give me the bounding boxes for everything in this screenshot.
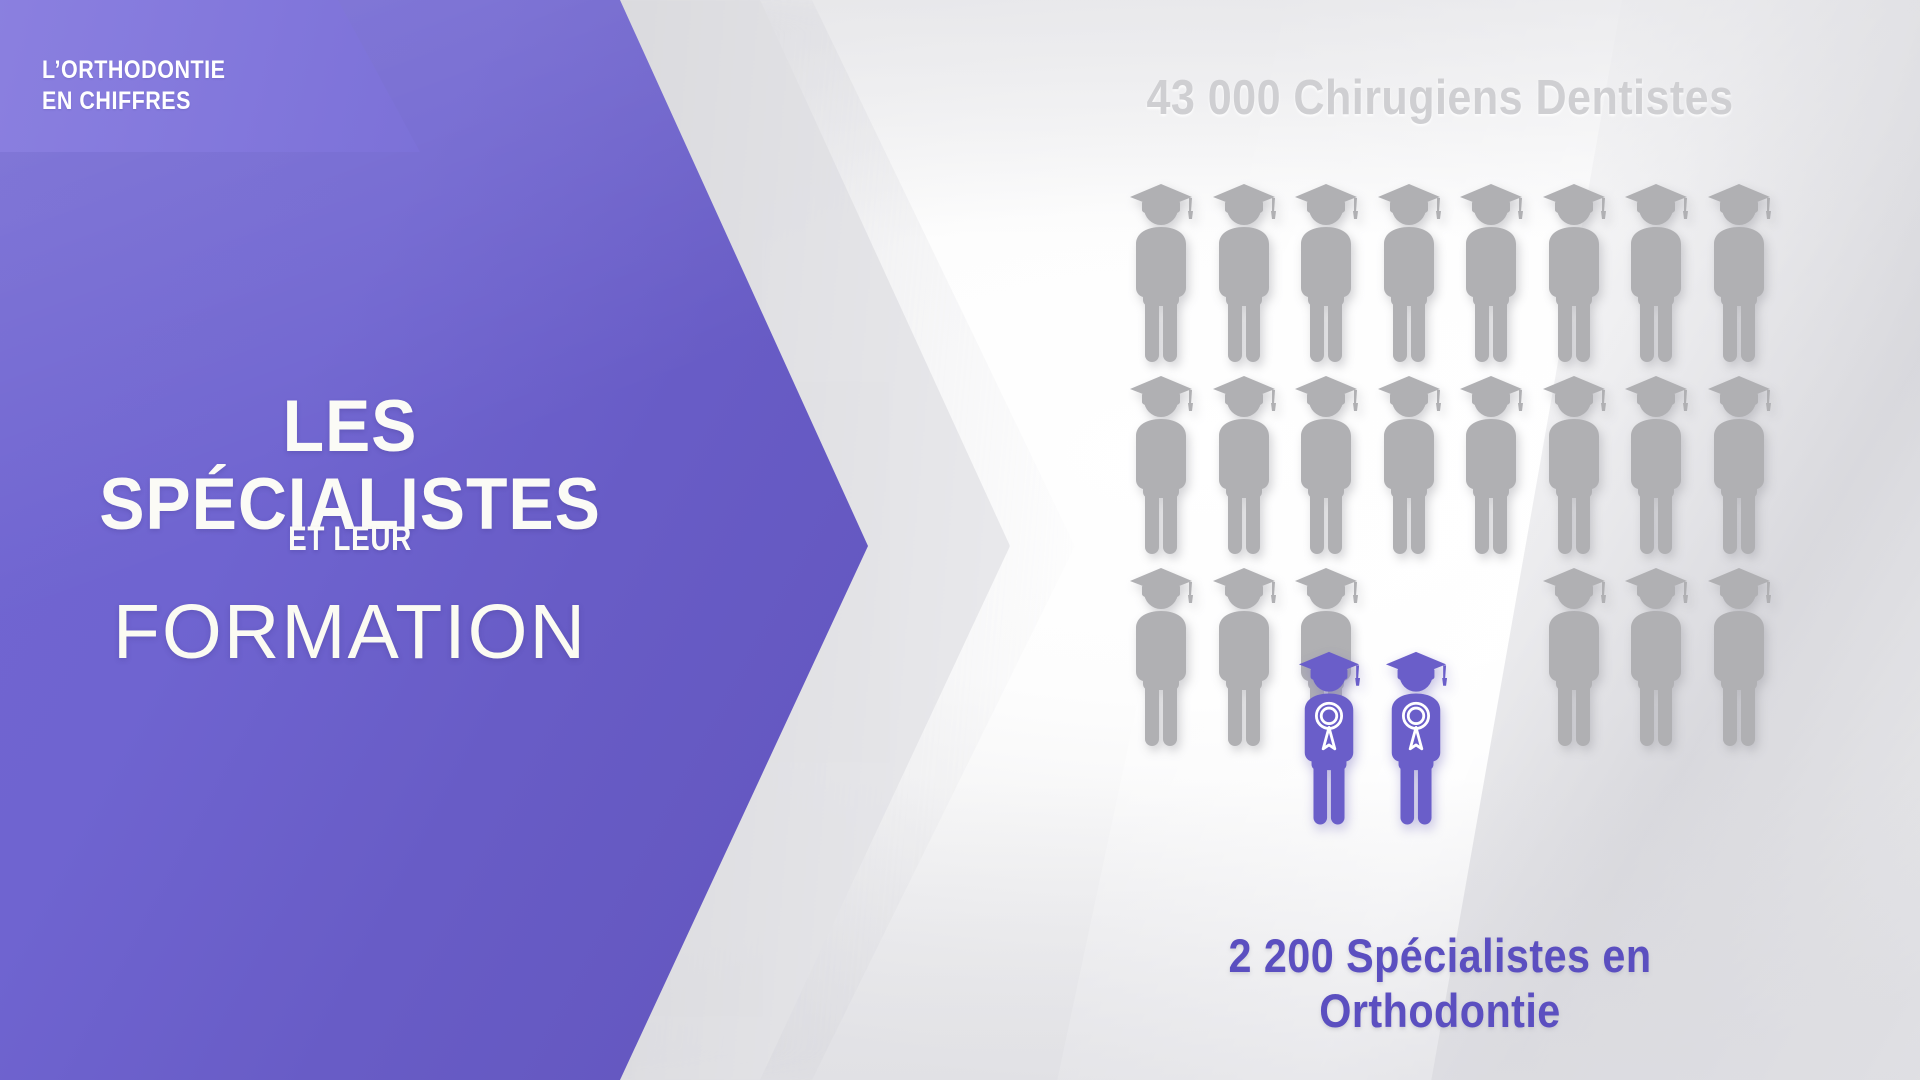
graduate-person-icon (1539, 370, 1609, 556)
graduate-person-icon (1209, 370, 1279, 556)
pictogram-cell (1120, 562, 1203, 752)
pictogram-row-2 (1120, 370, 1780, 560)
subtitle: ET LEUR (63, 520, 637, 559)
dentists-count-label: 43 000 Chirugiens Dentistes (1132, 70, 1748, 126)
graduate-person-icon (1291, 178, 1361, 364)
pictogram-cell (1615, 370, 1698, 560)
pictogram-cell (1120, 370, 1203, 560)
graduate-person-icon (1456, 370, 1526, 556)
pictogram-cell (1698, 178, 1781, 368)
pictogram-cell (1203, 370, 1286, 560)
pictogram-cell (1615, 178, 1698, 368)
pictogram-cell (1203, 178, 1286, 368)
pictogram-cell (1533, 178, 1616, 368)
graduate-person-icon (1456, 178, 1526, 364)
pictogram-cell (1450, 370, 1533, 560)
pictogram-cell (1285, 370, 1368, 560)
graduate-person-icon (1126, 562, 1196, 748)
graduate-person-icon (1621, 562, 1691, 748)
graduate-person-icon (1291, 370, 1361, 556)
graduate-person-icon (1621, 370, 1691, 556)
pictogram-row-1 (1120, 178, 1780, 368)
specialist-cell (1288, 646, 1369, 896)
graduate-person-icon (1704, 178, 1774, 364)
specialists-count-label: 2 200 Spécialistes en Orthodontie (1132, 928, 1748, 1038)
graduate-person-icon (1374, 370, 1444, 556)
pictogram-cell (1368, 178, 1451, 368)
graduate-person-icon (1209, 178, 1279, 364)
graduate-person-icon (1209, 562, 1279, 748)
eyebrow-line-1: L’ORTHODONTIE (42, 55, 334, 86)
specialist-cell (1375, 646, 1456, 896)
graduate-person-icon (1704, 562, 1774, 748)
graduate-person-icon (1374, 178, 1444, 364)
graduate-person-icon (1126, 370, 1196, 556)
graduate-person-icon (1539, 178, 1609, 364)
specialist-pair (1288, 646, 1456, 896)
formation-title: FORMATION (0, 588, 700, 677)
pictogram-cell (1203, 562, 1286, 752)
eyebrow-label: L’ORTHODONTIE EN CHIFFRES (42, 55, 334, 117)
graduate-person-icon (1539, 562, 1609, 748)
pictogram-grid (1120, 178, 1780, 898)
graduate-person-medal-icon (1295, 646, 1363, 826)
eyebrow-line-2: EN CHIFFRES (42, 86, 334, 117)
pictogram-cell (1698, 562, 1781, 752)
infographic-slide: L’ORTHODONTIE EN CHIFFRES LES SPÉCIALIST… (0, 0, 1920, 1080)
graduate-person-icon (1126, 178, 1196, 364)
pictogram-cell (1120, 178, 1203, 368)
pictogram-cell (1450, 178, 1533, 368)
pictogram-cell (1285, 178, 1368, 368)
pictogram-cell (1615, 562, 1698, 752)
pictogram-cell (1698, 370, 1781, 560)
graduate-person-icon (1704, 370, 1774, 556)
pictogram-cell (1368, 370, 1451, 560)
pictogram-cell (1533, 562, 1616, 752)
pictogram-cell (1533, 370, 1616, 560)
graduate-person-medal-icon (1382, 646, 1450, 826)
graduate-person-icon (1621, 178, 1691, 364)
